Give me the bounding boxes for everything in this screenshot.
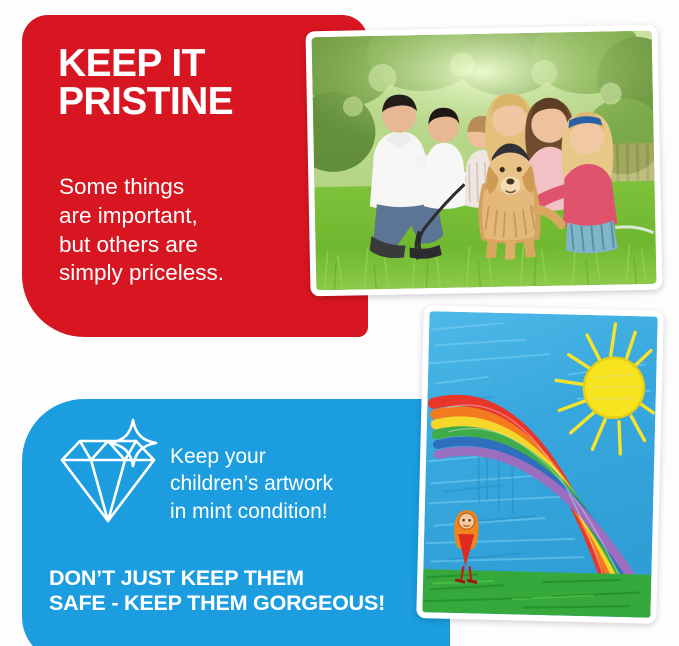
artwork-image [422,311,657,617]
headline-line-2: PRISTINE [58,83,348,121]
red-body-line-3: but others are [59,231,331,260]
blue-body-line-1: Keep your [170,443,420,470]
promo-graphic: KEEP IT PRISTINE Some things are importa… [0,0,679,646]
red-panel-headline: KEEP IT PRISTINE [58,45,348,121]
red-body-line-4: simply priceless. [59,259,331,288]
family-photo-image [312,31,657,290]
blue-body-line-3: in mint condition! [170,498,420,525]
family-photo-illustration [312,31,657,290]
headline-line-1: KEEP IT [58,42,205,85]
diamond-sparkle-icon [50,414,166,530]
cta-line-2: SAFE - KEEP THEM GORGEOUS! [49,591,429,616]
family-with-dog-photo [305,25,662,297]
red-panel-body: Some things are important, but others ar… [59,173,331,288]
childs-crayon-rainbow-drawing [416,305,664,624]
crayon-drawing-illustration [422,311,657,617]
red-body-line-2: are important, [59,202,331,231]
blue-panel-body: Keep your children’s artwork in mint con… [170,443,420,525]
red-body-line-1: Some things [59,173,331,202]
blue-panel-cta: DON’T JUST KEEP THEM SAFE - KEEP THEM GO… [49,566,429,616]
blue-body-line-2: children’s artwork [170,470,420,497]
cta-line-1: DON’T JUST KEEP THEM [49,566,429,591]
